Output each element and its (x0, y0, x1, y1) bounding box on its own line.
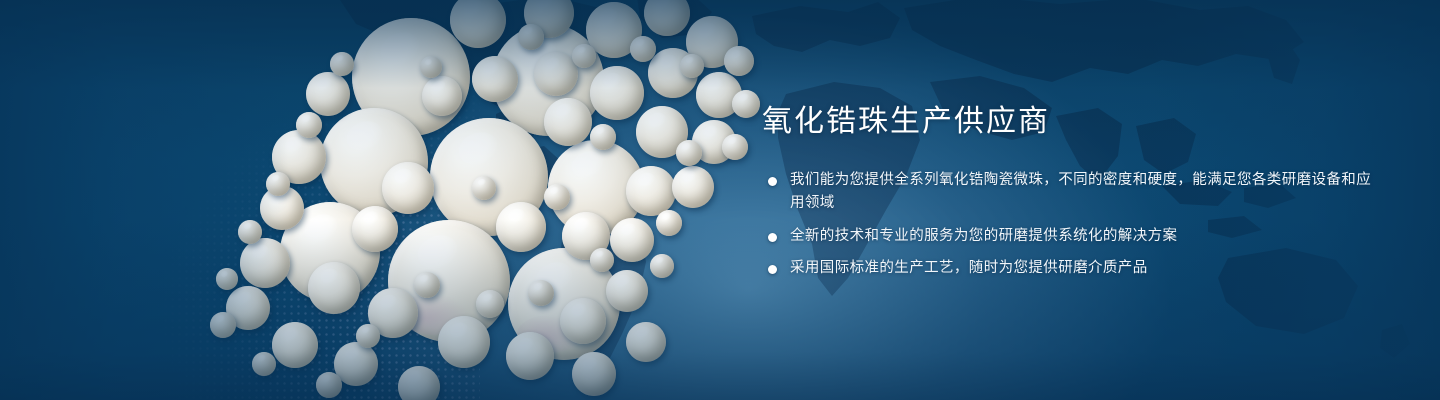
list-item: 采用国际标准的生产工艺，随时为您提供研磨介质产品 (762, 257, 1382, 280)
page-title: 氧化锆珠生产供应商 (762, 104, 1382, 141)
list-item: 我们能为您提供全系列氧化锆陶瓷微珠，不同的密度和硬度，能满足您各类研磨设备和应用… (762, 169, 1382, 216)
feature-list: 我们能为您提供全系列氧化锆陶瓷微珠，不同的密度和硬度，能满足您各类研磨设备和应用… (762, 169, 1382, 281)
list-item-label: 全新的技术和专业的服务为您的研磨提供系统化的解决方案 (790, 228, 1177, 244)
list-item: 全新的技术和专业的服务为您的研磨提供系统化的解决方案 (762, 225, 1382, 248)
banner-text-block: 氧化锆珠生产供应商 我们能为您提供全系列氧化锆陶瓷微珠，不同的密度和硬度，能满足… (762, 104, 1382, 281)
bullet-dot-icon (768, 177, 777, 186)
bullet-dot-icon (768, 265, 777, 274)
list-item-label: 我们能为您提供全系列氧化锆陶瓷微珠，不同的密度和硬度，能满足您各类研磨设备和应用… (790, 172, 1371, 211)
list-item-label: 采用国际标准的生产工艺，随时为您提供研磨介质产品 (790, 260, 1148, 276)
promo-banner: 氧化锆珠生产供应商 我们能为您提供全系列氧化锆陶瓷微珠，不同的密度和硬度，能满足… (0, 0, 1440, 400)
bullet-dot-icon (768, 233, 777, 242)
